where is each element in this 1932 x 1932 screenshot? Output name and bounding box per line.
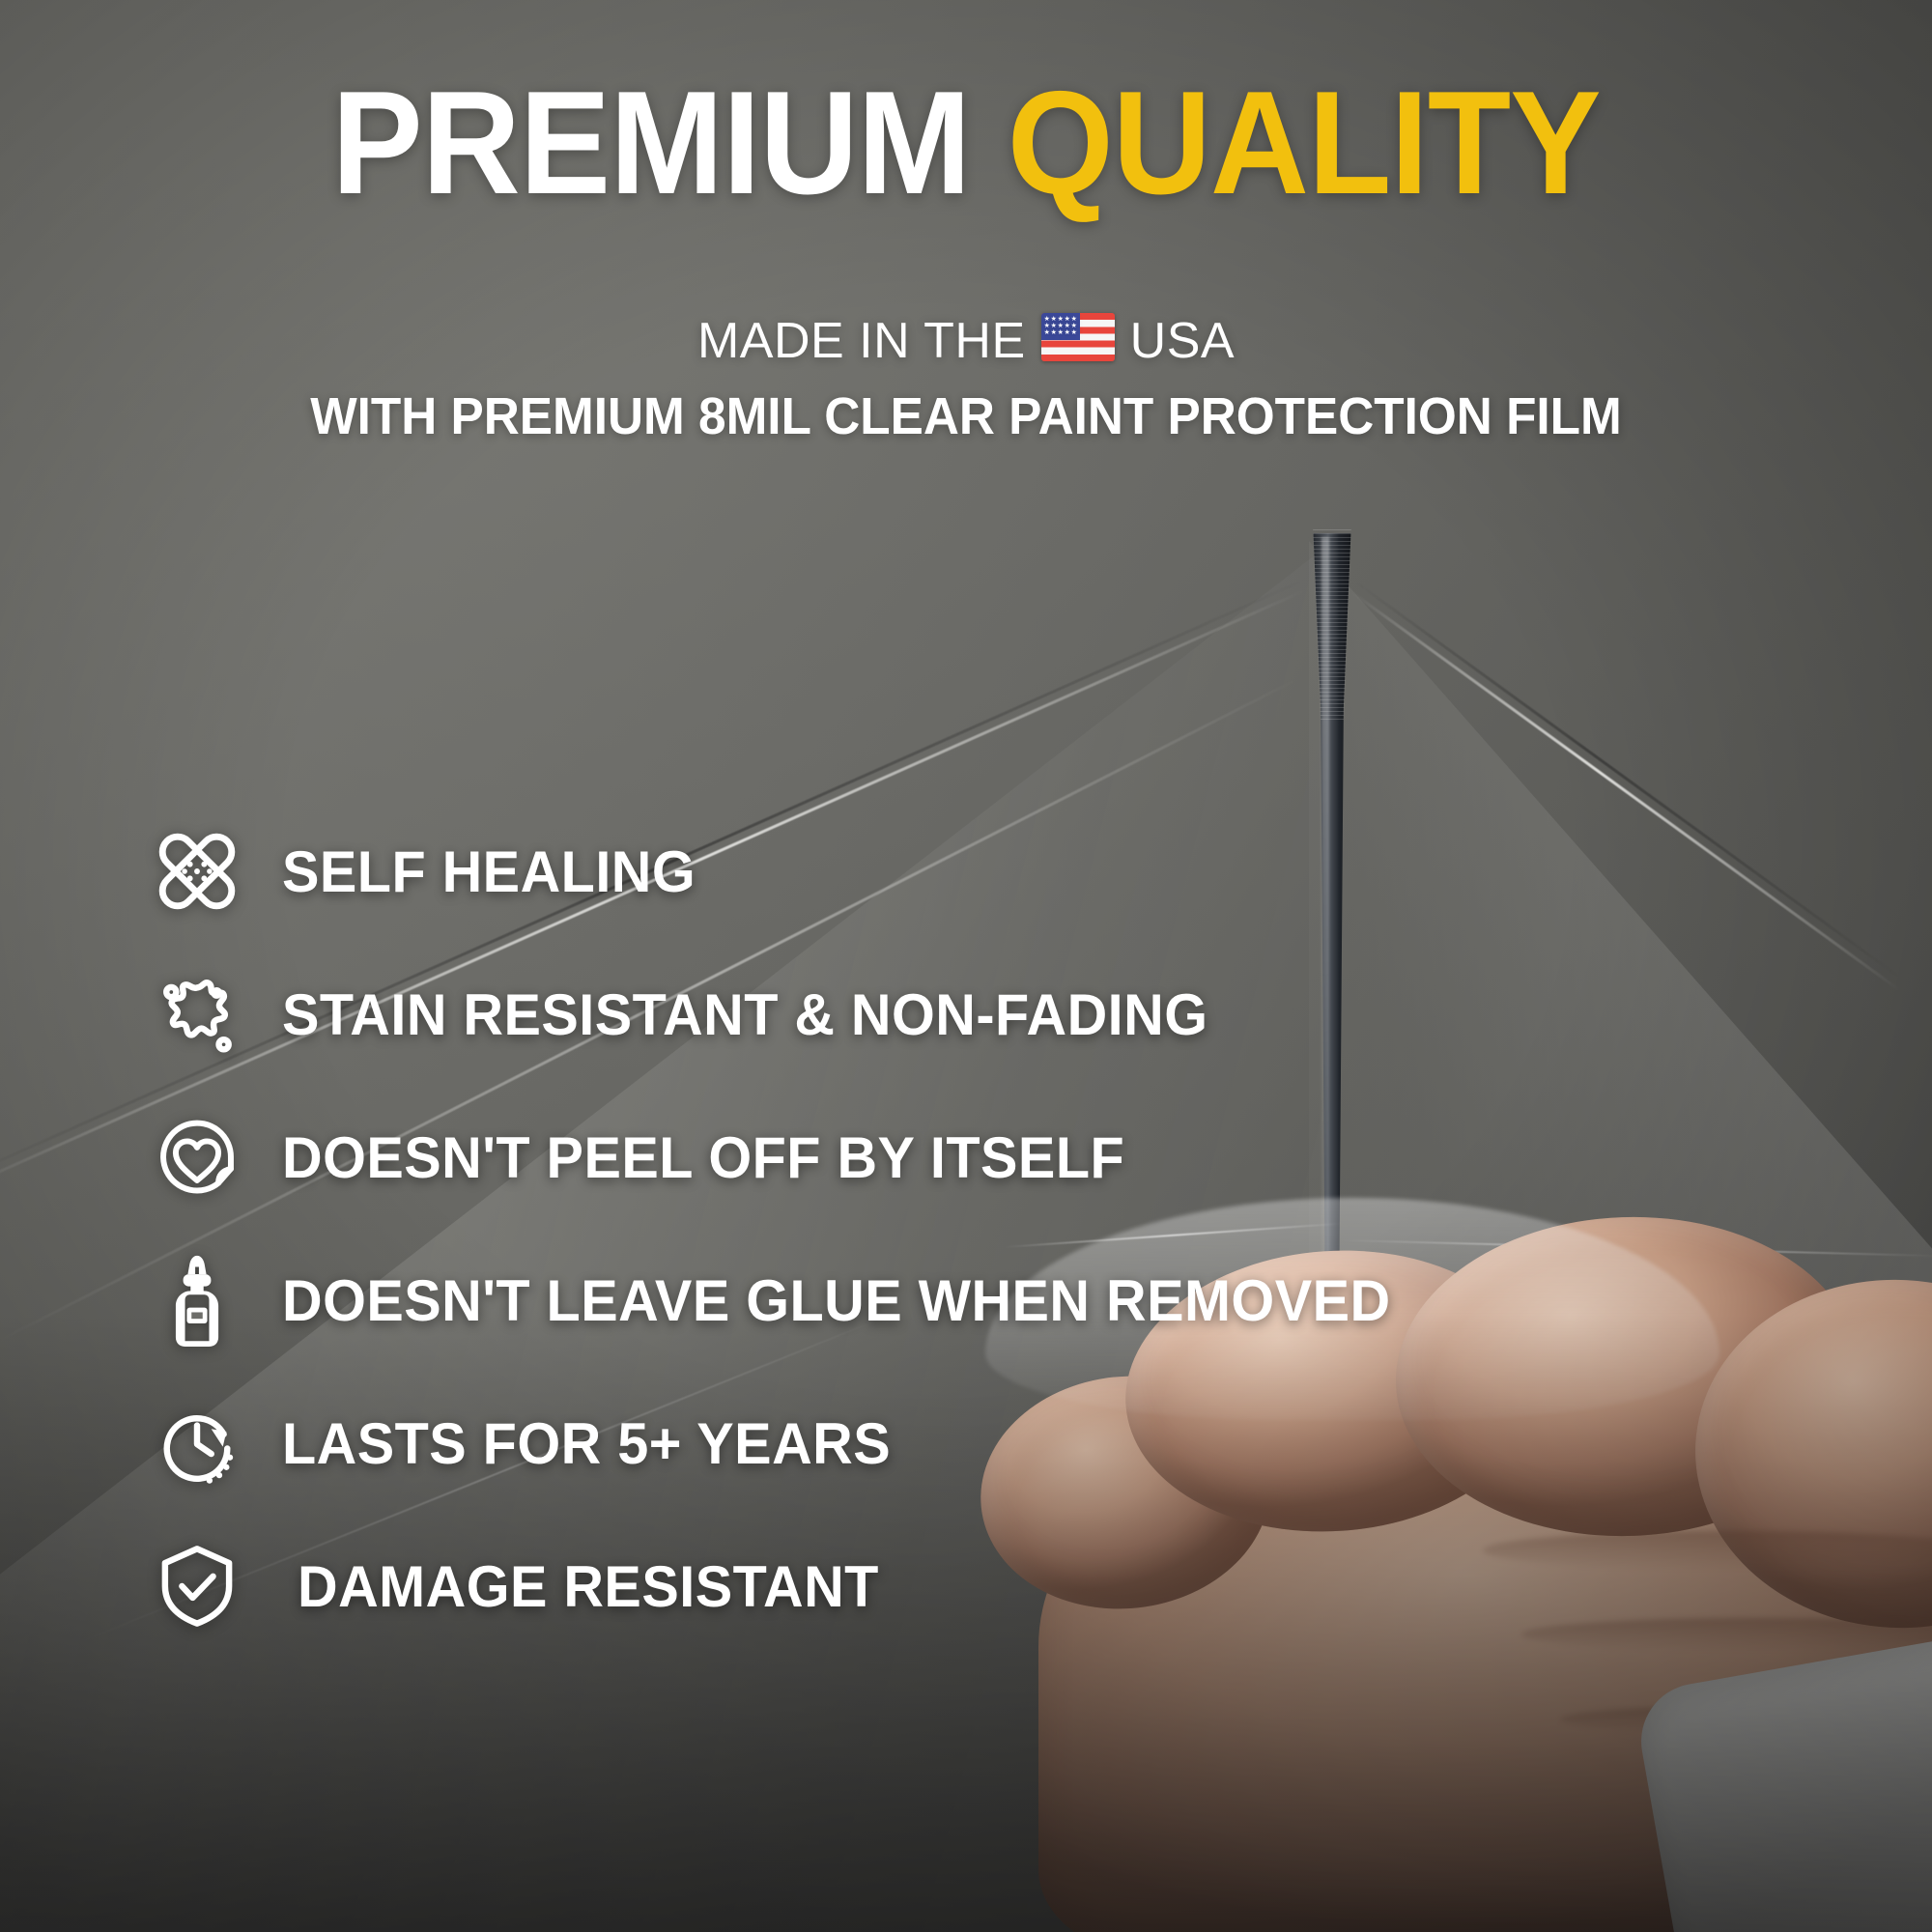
feature-item: DOESN'T PEEL OFF BY ITSELF [147,1086,1808,1229]
made-in-the-text: MADE IN THE [697,312,1026,370]
subtitle-line-1: MADE IN THE ★★★★★ ★★★★★ ★★★★★ USA [0,312,1932,370]
feature-label: LASTS FOR 5+ YEARS [282,1410,891,1477]
feature-list: SELF HEALING STAIN RESISTANT & NON-FADIN… [147,800,1808,1658]
overlay-content: PREMIUM QUALITY MADE IN THE ★★★★★ ★★★★★ … [0,0,1932,1932]
headline-word-quality: QUALITY [1008,61,1601,225]
feature-label: STAIN RESISTANT & NON-FADING [282,981,1208,1048]
feature-item: LASTS FOR 5+ YEARS [147,1372,1808,1515]
headline-word-premium: PREMIUM [331,61,970,225]
stain-splatter-icon [147,964,247,1065]
flag-canton: ★★★★★ ★★★★★ ★★★★★ [1041,313,1080,340]
subtitle-line-2: WITH PREMIUM 8MIL CLEAR PAINT PROTECTION… [48,386,1884,446]
feature-label: DOESN'T LEAVE GLUE WHEN REMOVED [282,1267,1391,1334]
feature-item: DOESN'T LEAVE GLUE WHEN REMOVED [147,1229,1808,1372]
usa-flag-icon: ★★★★★ ★★★★★ ★★★★★ [1041,313,1115,361]
glue-bottle-icon [147,1250,247,1350]
clock-rotate-icon [147,1393,247,1493]
product-feature-banner: PREMIUM QUALITY MADE IN THE ★★★★★ ★★★★★ … [0,0,1932,1932]
feature-item: STAIN RESISTANT & NON-FADING [147,943,1808,1086]
page-title: PREMIUM QUALITY [68,70,1864,216]
feature-label: SELF HEALING [282,838,696,905]
usa-text: USA [1130,312,1235,370]
shield-check-icon [147,1536,247,1636]
feature-label: DOESN'T PEEL OFF BY ITSELF [282,1124,1124,1191]
feature-item: DAMAGE RESISTANT [147,1515,1808,1658]
feature-label: DAMAGE RESISTANT [298,1553,879,1620]
bandage-cross-icon [147,821,247,922]
feature-item: SELF HEALING [147,800,1808,943]
peeling-sticker-heart-icon [147,1107,247,1207]
